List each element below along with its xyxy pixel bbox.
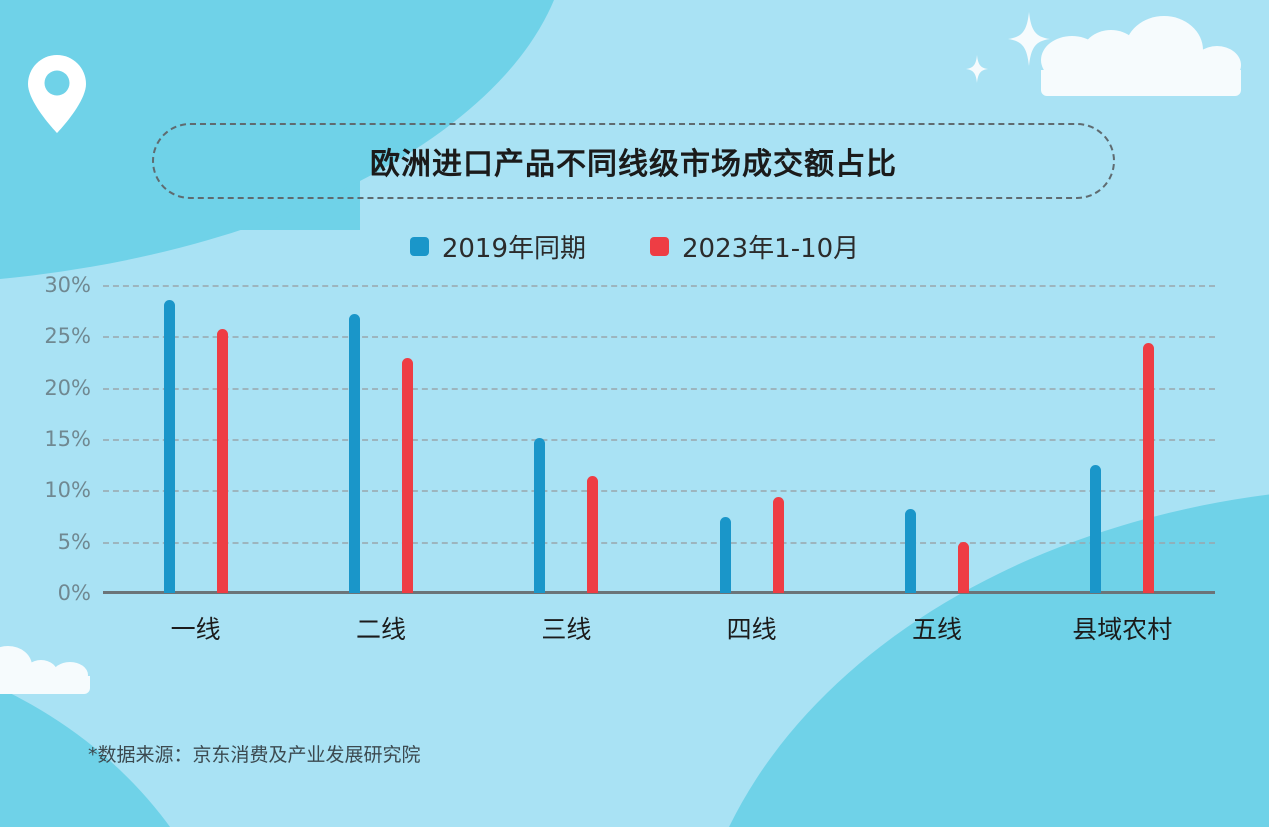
bar-series-2023[interactable] [402, 358, 413, 593]
background-shape-bottom-left [0, 637, 240, 827]
chart-legend: 2019年同期2023年1-10月 [0, 228, 1269, 265]
bar-series-2019[interactable] [1090, 465, 1101, 593]
bar-groups: 一线二线三线四线五线县域农村 [103, 285, 1215, 593]
x-axis-category-label: 四线 [659, 610, 844, 646]
bar-series-2023[interactable] [773, 497, 784, 594]
legend-item[interactable]: 2019年同期 [410, 228, 586, 265]
x-axis-category-label: 五线 [844, 610, 1029, 646]
page-title: 欧洲进口产品不同线级市场成交额占比 [370, 139, 897, 183]
x-axis-category-label: 三线 [474, 610, 659, 646]
bar-pair [103, 285, 288, 593]
bar-group: 四线 [659, 285, 844, 593]
cloud-icon [1041, 30, 1241, 96]
bar-group: 一线 [103, 285, 288, 593]
bar-group: 县域农村 [1030, 285, 1215, 593]
bar-series-2023[interactable] [958, 542, 969, 593]
y-axis-tick-label: 10% [44, 478, 91, 502]
source-footnote: *数据来源：京东消费及产业发展研究院 [88, 740, 421, 767]
x-axis-category-label: 一线 [103, 610, 288, 646]
bar-group: 五线 [844, 285, 1029, 593]
chart-plot-area: 30%25%20%15%10%5%0% 一线二线三线四线五线县域农村 [103, 285, 1215, 593]
sparkle-icon [1008, 12, 1050, 66]
sparkle-icon [966, 55, 988, 83]
chart-title-box: 欧洲进口产品不同线级市场成交额占比 [152, 123, 1115, 199]
x-axis-category-label: 县域农村 [1030, 610, 1215, 646]
legend-swatch-icon [410, 237, 429, 256]
x-axis-category-label: 二线 [288, 610, 473, 646]
bar-pair [844, 285, 1029, 593]
y-axis-tick-label: 30% [44, 273, 91, 297]
y-axis-tick-label: 20% [44, 376, 91, 400]
bar-series-2023[interactable] [217, 329, 228, 593]
y-axis-tick-label: 5% [58, 530, 91, 554]
bar-series-2019[interactable] [905, 509, 916, 593]
legend-swatch-icon [650, 237, 669, 256]
bar-pair [288, 285, 473, 593]
legend-label: 2019年同期 [442, 228, 586, 265]
infographic-poster: 欧洲进口产品不同线级市场成交额占比 2019年同期2023年1-10月 30%2… [0, 0, 1269, 827]
bar-series-2023[interactable] [587, 476, 598, 593]
bar-series-2019[interactable] [720, 517, 731, 593]
bar-series-2023[interactable] [1143, 343, 1154, 594]
bar-pair [659, 285, 844, 593]
bar-series-2019[interactable] [164, 300, 175, 593]
bar-series-2019[interactable] [534, 438, 545, 593]
y-axis-tick-label: 25% [44, 324, 91, 348]
y-axis-tick-label: 15% [44, 427, 91, 451]
legend-label: 2023年1-10月 [682, 228, 859, 265]
y-axis-tick-label: 0% [58, 581, 91, 605]
bar-group: 二线 [288, 285, 473, 593]
bar-series-2019[interactable] [349, 314, 360, 593]
legend-item[interactable]: 2023年1-10月 [650, 228, 859, 265]
bar-group: 三线 [474, 285, 659, 593]
bar-pair [474, 285, 659, 593]
bar-pair [1030, 285, 1215, 593]
cloud-icon [0, 650, 90, 694]
map-pin-icon [28, 55, 86, 133]
